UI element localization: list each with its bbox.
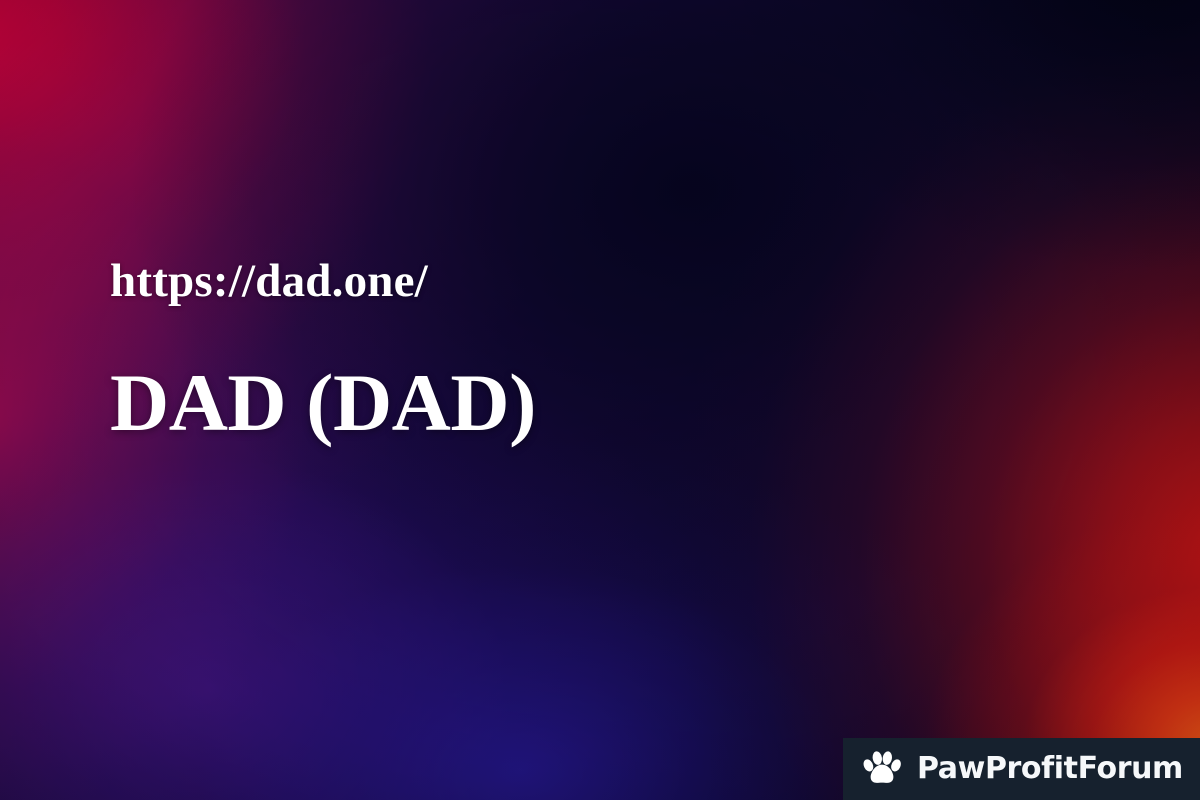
headline-block: https://dad.one/ DAD (DAD) — [110, 258, 810, 444]
paw-icon — [861, 749, 903, 789]
watermark-badge: PawProfitForum — [843, 738, 1200, 800]
page-title: DAD (DAD) — [110, 306, 810, 444]
site-url: https://dad.one/ — [110, 258, 810, 306]
watermark-label: PawProfitForum — [917, 754, 1183, 784]
promo-card-canvas: https://dad.one/ DAD (DAD) PawProfitForu… — [0, 0, 1200, 800]
